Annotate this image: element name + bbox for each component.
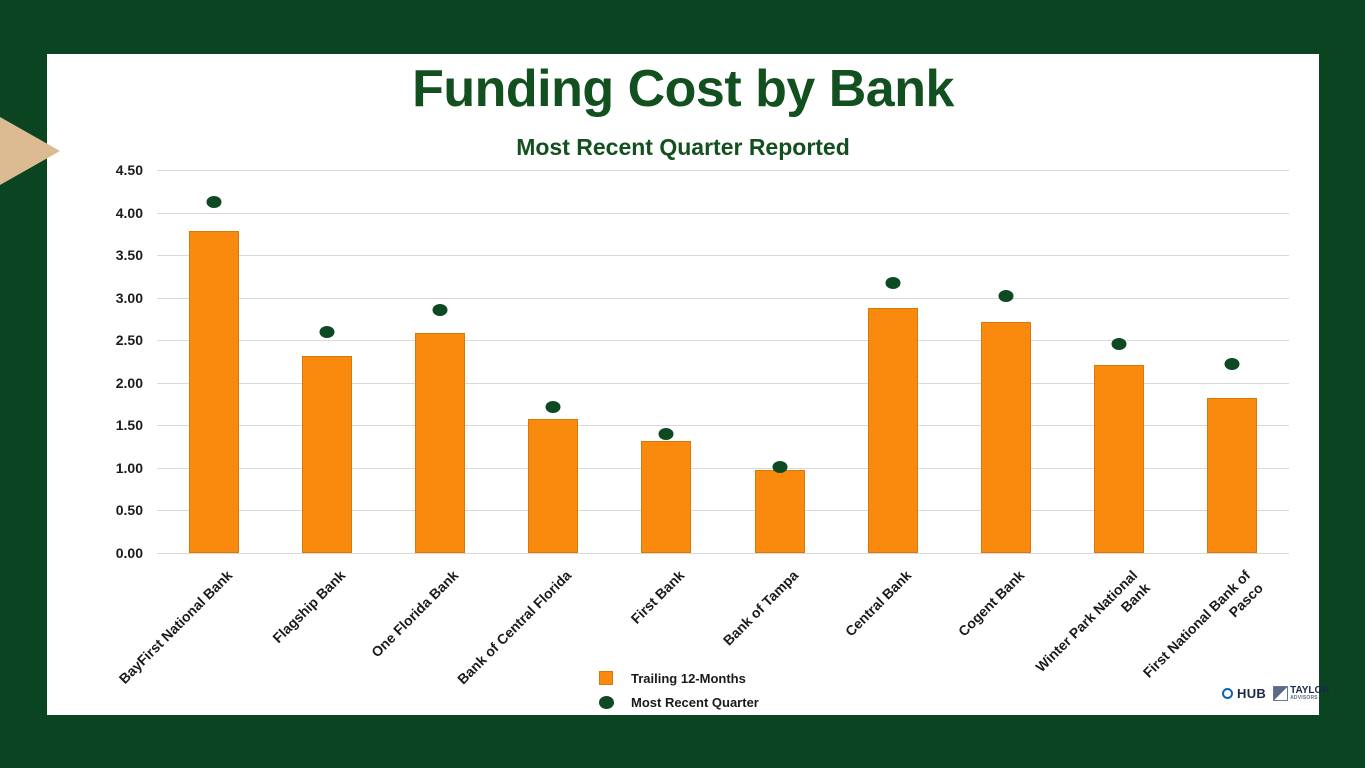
bar[interactable] — [981, 322, 1031, 554]
taylor-logo-sub: ADVISORS — [1290, 696, 1329, 701]
y-axis-tick-label: 0.50 — [116, 502, 143, 518]
play-triangle-icon — [0, 117, 60, 185]
y-axis-tick-label: 3.00 — [116, 290, 143, 306]
bar[interactable] — [302, 356, 352, 553]
hub-ring-icon — [1222, 688, 1233, 699]
bar[interactable] — [1094, 365, 1144, 553]
hub-logo-text: HUB — [1237, 686, 1266, 701]
legend-item[interactable]: Trailing 12-Months — [599, 666, 759, 690]
y-axis-tick-label: 0.00 — [116, 545, 143, 561]
chart-legend: Trailing 12-MonthsMost Recent Quarter — [599, 666, 759, 714]
taylor-logo-text: TAYLOR ADVISORS — [1290, 686, 1329, 701]
data-point-marker[interactable] — [885, 277, 900, 289]
legend-circle-icon — [599, 696, 614, 709]
data-point-marker[interactable] — [546, 401, 561, 413]
legend-item-label: Most Recent Quarter — [631, 695, 759, 710]
data-point-marker[interactable] — [1225, 358, 1240, 370]
data-point-marker[interactable] — [206, 196, 221, 208]
bar[interactable] — [189, 231, 239, 553]
slide-canvas: Funding Cost by Bank Most Recent Quarter… — [0, 0, 1365, 768]
page-title: Funding Cost by Bank — [47, 62, 1319, 117]
hub-logo: HUB — [1222, 686, 1266, 701]
taylor-advisors-logo: TAYLOR ADVISORS — [1273, 686, 1329, 701]
gridline — [157, 255, 1289, 256]
y-axis-tick-label: 4.50 — [116, 162, 143, 178]
bar[interactable] — [868, 308, 918, 553]
data-point-marker[interactable] — [433, 304, 448, 316]
legend-item-label: Trailing 12-Months — [631, 671, 746, 686]
taylor-mark-icon — [1273, 686, 1288, 701]
gridline — [157, 170, 1289, 171]
y-axis-tick-label: 1.50 — [116, 417, 143, 433]
data-point-marker[interactable] — [772, 461, 787, 473]
bar[interactable] — [755, 470, 805, 553]
data-point-marker[interactable] — [1112, 338, 1127, 350]
y-axis-tick-label: 2.50 — [116, 332, 143, 348]
chart-card: Funding Cost by Bank Most Recent Quarter… — [47, 54, 1319, 715]
bar[interactable] — [415, 333, 465, 553]
data-point-marker[interactable] — [659, 428, 674, 440]
y-axis-tick-label: 2.00 — [116, 375, 143, 391]
chart-subtitle: Most Recent Quarter Reported — [47, 134, 1319, 161]
gridline — [157, 298, 1289, 299]
branding-logos: HUB TAYLOR ADVISORS — [1222, 686, 1330, 701]
plot-area: 0.000.501.001.502.002.503.003.504.004.50… — [157, 170, 1289, 553]
gridline — [157, 553, 1289, 554]
legend-item[interactable]: Most Recent Quarter — [599, 690, 759, 714]
data-point-marker[interactable] — [319, 326, 334, 338]
y-axis-tick-label: 4.00 — [116, 205, 143, 221]
bar[interactable] — [641, 441, 691, 553]
y-axis-tick-label: 3.50 — [116, 247, 143, 263]
bar[interactable] — [1207, 398, 1257, 553]
bar[interactable] — [528, 419, 578, 553]
legend-square-icon — [599, 671, 613, 685]
gridline — [157, 213, 1289, 214]
y-axis-tick-label: 1.00 — [116, 460, 143, 476]
data-point-marker[interactable] — [999, 290, 1014, 302]
